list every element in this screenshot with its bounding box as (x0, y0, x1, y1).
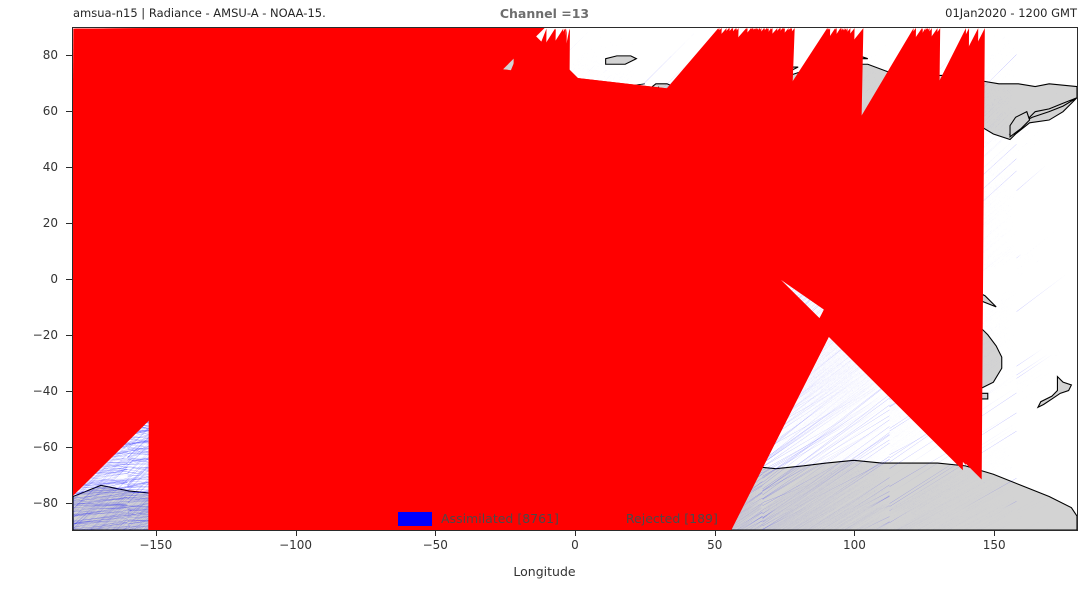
legend: Assimilated [8761]Rejected [189] (398, 511, 718, 526)
x-tick (435, 531, 436, 536)
x-tick (156, 531, 157, 536)
x-tick-label: 0 (571, 538, 579, 552)
x-tick-label: −100 (279, 538, 312, 552)
x-tick-label: 100 (843, 538, 866, 552)
x-tick-label: −150 (139, 538, 172, 552)
y-tick (66, 447, 72, 448)
x-axis-title: Longitude (0, 564, 1089, 579)
x-tick-label: 150 (983, 538, 1006, 552)
x-tick (994, 531, 995, 536)
legend-item: Assimilated [8761] (398, 511, 559, 526)
y-tick (66, 55, 72, 56)
legend-label: Assimilated [8761] (441, 511, 559, 526)
y-tick-label: 0 (50, 272, 58, 286)
y-tick-label: −20 (33, 328, 58, 342)
y-tick (66, 223, 72, 224)
legend-swatch (398, 512, 432, 526)
y-tick-label: 40 (43, 160, 58, 174)
y-tick-label: 20 (43, 216, 58, 230)
x-tick (854, 531, 855, 536)
y-tick (66, 391, 72, 392)
header-timestamp: 01Jan2020 - 1200 GMT (945, 6, 1077, 20)
rejected-points (73, 28, 985, 530)
x-tick-label: 50 (707, 538, 722, 552)
y-tick-label: −80 (33, 496, 58, 510)
y-tick-label: −60 (33, 440, 58, 454)
x-tick-label: −50 (423, 538, 448, 552)
x-tick (715, 531, 716, 536)
y-tick (66, 111, 72, 112)
y-tick-label: −40 (33, 384, 58, 398)
map-plot-area (72, 27, 1078, 531)
figure-canvas: amsua-n15 | Radiance - AMSU-A - NOAA-15.… (0, 0, 1089, 590)
y-tick (66, 503, 72, 504)
x-tick (575, 531, 576, 536)
y-tick (66, 279, 72, 280)
y-tick (66, 335, 72, 336)
y-tick-label: 80 (43, 48, 58, 62)
page-title: Channel =13 (0, 6, 1089, 21)
legend-swatch (583, 512, 617, 526)
y-tick-label: 60 (43, 104, 58, 118)
x-tick (296, 531, 297, 536)
legend-label: Rejected [189] (626, 511, 718, 526)
y-tick (66, 167, 72, 168)
legend-item: Rejected [189] (583, 511, 718, 526)
observation-scatter-layer (73, 28, 1077, 530)
